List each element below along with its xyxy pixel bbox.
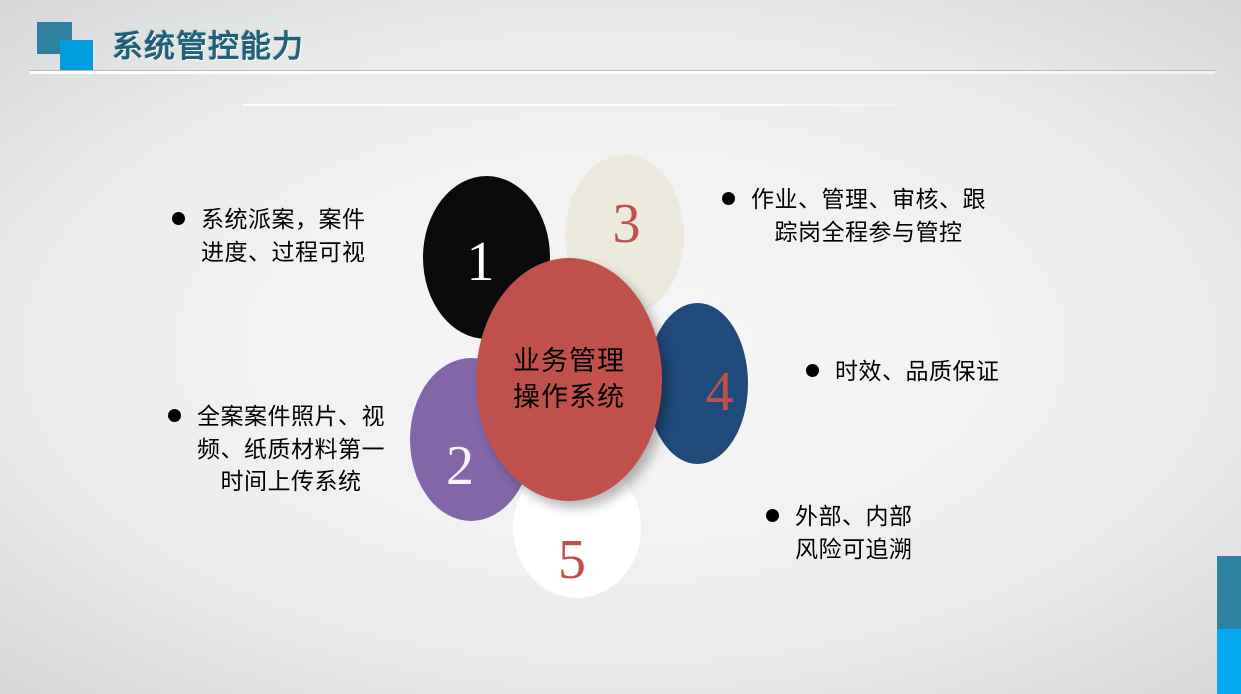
petal-number-1: 1 xyxy=(467,234,495,290)
petal-number-3: 3 xyxy=(613,196,641,252)
bullet-right-middle-text: 时效、品质保证 xyxy=(835,355,1000,388)
edge-accent-blue-icon xyxy=(1217,629,1241,694)
bullet-right-top: 作业、管理、审核、跟 踪岗全程参与管控 xyxy=(722,183,1042,248)
bullet-right-bottom: 外部、内部 风险可追溯 xyxy=(766,500,976,565)
bullet-right-bottom-text: 外部、内部 风险可追溯 xyxy=(795,500,913,565)
bullet-dot-icon xyxy=(722,192,735,205)
center-label-line-1: 业务管理 xyxy=(513,344,625,380)
diagram-center-node[interactable]: 业务管理 操作系统 xyxy=(476,258,662,501)
secondary-divider xyxy=(243,104,898,106)
petal-number-2: 2 xyxy=(446,438,474,494)
center-label-line-2: 操作系统 xyxy=(513,380,625,416)
bullet-dot-icon xyxy=(168,409,181,422)
edge-accent-teal-icon xyxy=(1217,556,1241,629)
bullet-left-bottom-text: 全案案件照片、视 频、纸质材料第一 时间上传系统 xyxy=(197,400,385,498)
petal-number-4: 4 xyxy=(706,364,734,420)
title-divider xyxy=(30,71,1215,74)
slide-canvas: 系统管控能力 1 3 2 4 5 业务管理 操作系统 系统派案，案件 进度、过程… xyxy=(0,0,1241,694)
bullet-dot-icon xyxy=(172,212,185,225)
bullet-dot-icon xyxy=(766,509,779,522)
petal-number-5: 5 xyxy=(558,532,586,588)
bullet-left-top: 系统派案，案件 进度、过程可视 xyxy=(172,203,408,268)
bullet-left-bottom: 全案案件照片、视 频、纸质材料第一 时间上传系统 xyxy=(168,400,420,498)
bullet-right-top-text: 作业、管理、审核、跟 踪岗全程参与管控 xyxy=(751,183,986,248)
header-square-blue-icon xyxy=(60,40,93,70)
bullet-left-top-text: 系统派案，案件 进度、过程可视 xyxy=(201,203,366,268)
diagram-petal-4[interactable]: 4 xyxy=(647,303,748,464)
bullet-right-middle: 时效、品质保证 xyxy=(806,355,1046,388)
page-title: 系统管控能力 xyxy=(112,21,304,66)
bullet-dot-icon xyxy=(806,364,819,377)
